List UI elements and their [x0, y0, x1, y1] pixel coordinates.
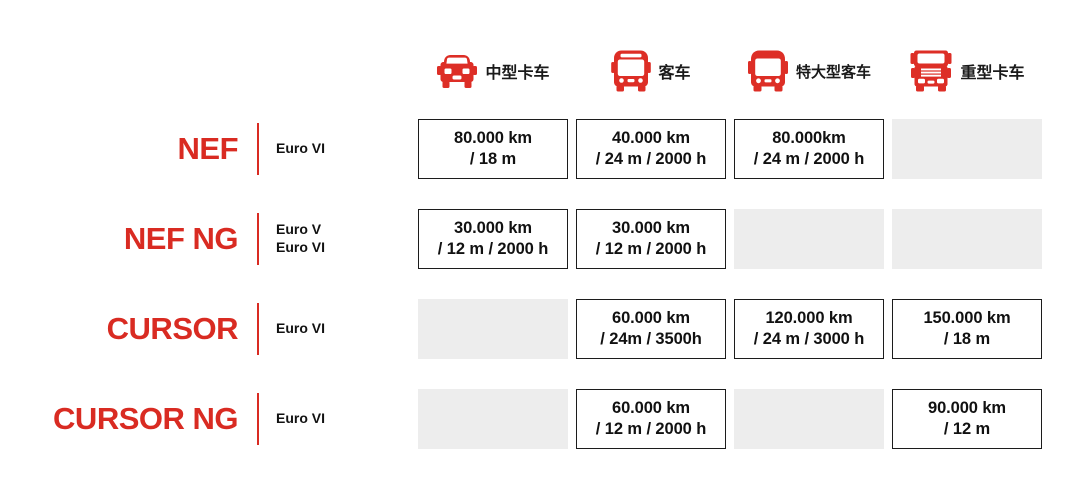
cell-text: 90.000 km / 12 m: [928, 398, 1006, 440]
column-header-bus: 客车: [576, 40, 726, 102]
row-brand-label: CURSOR: [0, 299, 246, 359]
row-euro-standard: Euro VI: [276, 389, 325, 449]
cell-text: 80.000km / 24 m / 2000 h: [754, 128, 864, 170]
column-header-label: 重型卡车: [960, 59, 1024, 83]
column-header-label: 客车: [658, 59, 690, 83]
large-bus-icon: [747, 49, 789, 93]
data-cell: 80.000km / 24 m / 2000 h: [734, 119, 884, 179]
column-header-medium-truck: 中型卡车: [418, 40, 568, 102]
data-cell: 40.000 km / 24 m / 2000 h: [576, 119, 726, 179]
cell-text: 80.000 km / 18 m: [454, 128, 532, 170]
bus-icon: [611, 49, 651, 93]
cell-text: 120.000 km / 24 m / 3000 h: [754, 308, 864, 350]
table-row: CURSOR Euro VI 60.000 km / 24m / 3500h 1…: [0, 299, 1072, 359]
cell-text: 60.000 km / 12 m / 2000 h: [596, 398, 706, 440]
data-cell-empty: [418, 299, 568, 359]
data-cell-empty: [734, 389, 884, 449]
cell-text: 150.000 km / 18 m: [923, 308, 1010, 350]
euro-text: Euro V Euro VI: [276, 221, 325, 257]
medium-truck-icon: [436, 52, 478, 90]
row-divider: [257, 123, 259, 175]
data-cell: 90.000 km / 12 m: [892, 389, 1042, 449]
column-header-label: 特大型客车: [796, 61, 871, 82]
column-header-label: 中型卡车: [485, 59, 549, 83]
row-cells: 60.000 km / 24m / 3500h 120.000 km / 24 …: [418, 299, 1042, 359]
cell-text: 30.000 km / 12 m / 2000 h: [596, 218, 706, 260]
row-cells: 80.000 km / 18 m 40.000 km / 24 m / 2000…: [418, 119, 1042, 179]
data-cell: 30.000 km / 12 m / 2000 h: [418, 209, 568, 269]
row-brand-label: CURSOR NG: [0, 389, 246, 449]
column-header-heavy-truck: 重型卡车: [892, 40, 1042, 102]
euro-text: Euro VI: [276, 410, 325, 428]
data-cell-empty: [734, 209, 884, 269]
data-cell: 60.000 km / 24m / 3500h: [576, 299, 726, 359]
row-brand-label: NEF NG: [0, 209, 246, 269]
row-euro-standard: Euro VI: [276, 299, 325, 359]
row-divider: [257, 393, 259, 445]
cell-text: 30.000 km / 12 m / 2000 h: [438, 218, 548, 260]
table-row: NEF Euro VI 80.000 km / 18 m 40.000 km /…: [0, 119, 1072, 179]
table-row: NEF NG Euro V Euro VI 30.000 km / 12 m /…: [0, 209, 1072, 269]
cell-text: 60.000 km / 24m / 3500h: [600, 308, 701, 350]
row-euro-standard: Euro VI: [276, 119, 325, 179]
data-cell: 80.000 km / 18 m: [418, 119, 568, 179]
row-divider: [257, 213, 259, 265]
maintenance-interval-table: 中型卡车 客车: [0, 0, 1072, 490]
row-cells: 60.000 km / 12 m / 2000 h 90.000 km / 12…: [418, 389, 1042, 449]
row-cells: 30.000 km / 12 m / 2000 h 30.000 km / 12…: [418, 209, 1042, 269]
row-brand-label: NEF: [0, 119, 246, 179]
data-cell-empty: [892, 209, 1042, 269]
data-cell-empty: [892, 119, 1042, 179]
row-euro-standard: Euro V Euro VI: [276, 209, 325, 269]
data-cell: 120.000 km / 24 m / 3000 h: [734, 299, 884, 359]
data-cell: 60.000 km / 12 m / 2000 h: [576, 389, 726, 449]
euro-text: Euro VI: [276, 140, 325, 158]
column-header-large-bus: 特大型客车: [734, 40, 884, 102]
data-cell: 150.000 km / 18 m: [892, 299, 1042, 359]
heavy-truck-icon: [909, 49, 953, 93]
euro-text: Euro VI: [276, 320, 325, 338]
table-row: CURSOR NG Euro VI 60.000 km / 12 m / 200…: [0, 389, 1072, 449]
cell-text: 40.000 km / 24 m / 2000 h: [596, 128, 706, 170]
row-divider: [257, 303, 259, 355]
table-header-row: 中型卡车 客车: [418, 40, 1042, 102]
data-cell: 30.000 km / 12 m / 2000 h: [576, 209, 726, 269]
data-cell-empty: [418, 389, 568, 449]
